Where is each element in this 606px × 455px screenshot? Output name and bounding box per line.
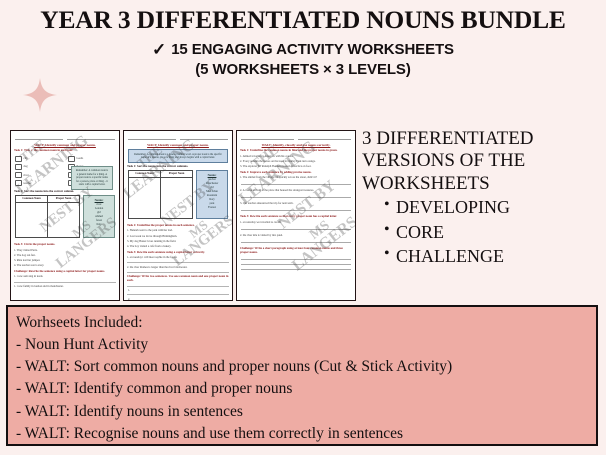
sheet3-task1-item: 3. The explorer Sir Ranulph Fiennes cros… [240, 165, 352, 169]
sheet1-word-bank: Nouns: river London girl Ahmed forest It… [83, 195, 115, 238]
sheet3-task1-item: 2. Every autumn the leaves on the trees … [240, 160, 352, 164]
sheet3-answer-line [241, 184, 351, 185]
sheet3-task2-item: 2. A visitor arrived at the place that h… [240, 189, 352, 193]
differentiation-panel: 3 DIFFERENTIATED VERSIONS OF THE WORKSHE… [362, 128, 600, 268]
sheet1-check-label: city [24, 157, 28, 160]
page-title: YEAR 3 DIFFERENTIATED NOUNS BUNDLE [10, 6, 596, 34]
list-item: CORE [384, 221, 600, 244]
word-bank-word: Italy [97, 223, 102, 226]
word-bank-word: teacher [208, 178, 216, 181]
check-icon: ✓ [152, 41, 166, 58]
word-bank-word: Rory [209, 198, 214, 201]
sheet3-task2-item: 1. The animal from the village ran quick… [240, 176, 352, 180]
sheet2-table-header-row: Common Noun Proper Noun [129, 171, 192, 178]
sheet2-task3-item: 1. on tuesday i will meet sophie in the … [127, 256, 229, 260]
sheet2-table-header-cell: Common Noun [129, 171, 161, 177]
sheet2-word-bank-title: Nouns: [199, 173, 226, 177]
sheet1-table-cell[interactable] [16, 203, 48, 237]
sheet2-table-cell[interactable] [129, 178, 161, 218]
sheet1-task3-heading: Task 3: Circle the proper nouns. [14, 243, 116, 247]
sheet2-task2-item: 1. Hannah went to the park with her dad. [127, 229, 229, 233]
sheet3-task3-item: 2. the river nile is visited by mrs pate… [240, 234, 352, 238]
worksheets-included-heading: Worhseets Included: [16, 312, 588, 334]
list-item: - Noun Hunt Activity [16, 334, 588, 356]
sheet2-answer-line [127, 294, 229, 295]
header-subline-1: ✓ 15 ENGAGING ACTIVITY WORKSHEETS [10, 41, 596, 58]
sheet1-challenge-item: 1. i saw sam sing in leeds. [14, 275, 116, 279]
sheet2-name-date-row [124, 131, 232, 140]
list-item: - WALT: Sort common nouns and proper nou… [16, 356, 588, 378]
sparkle-icon [22, 77, 58, 113]
sheet1-title: WALT: Identify common and proper nouns. [13, 143, 117, 147]
sheet1-task1-heading: Task 1: Tick ✓ the common noun in each p… [14, 149, 116, 153]
worksheet-preview-developing[interactable]: WALT: Identify common and proper nouns. … [10, 130, 120, 301]
sheet2-task2-item: 3. My dog Buster loves running in the fi… [127, 240, 229, 244]
sheet3-answer-line [241, 259, 351, 260]
sheet3-task3-item: 1. on saturday we travelled to cardiff. [240, 221, 352, 225]
sheet2-task3-heading: Task 3: Rewrite each sentence using a ca… [127, 251, 229, 255]
sheet1-task3-item: 4. The teacher read a story. [14, 264, 116, 268]
word-bank-word: London [95, 207, 103, 210]
sheet2-title: WALT: Identify common and proper nouns. [126, 143, 230, 147]
sheet2-table-header-cell: Proper Noun [161, 171, 192, 177]
sheet1-answer-line [14, 282, 116, 283]
sheet2-task3-item: 2. the river thames is longer than the r… [127, 266, 229, 270]
list-item: CHALLENGE [384, 245, 600, 268]
sheet1-task3-item: 2. The dog ran fast. [14, 254, 116, 258]
sheet2-table-body[interactable] [129, 178, 192, 218]
sheet1-check-row[interactable]: Leeds [68, 156, 115, 163]
sheet1-word-bank-title: Nouns: [86, 198, 113, 202]
sheet1-checkbox-column-left: city dog river teacher [15, 154, 62, 188]
sheet1-check-label: river [24, 174, 29, 177]
word-bank-word: Manchester [206, 182, 219, 185]
sheet1-footer-note: 1. i saw family in london and in manches… [14, 285, 116, 289]
worksheet-preview-challenge[interactable]: WALT: Identify, classify and use nouns c… [236, 130, 356, 301]
checkbox-icon[interactable] [68, 156, 75, 163]
sheet3-task3-heading: Task 3: Rewrite each sentence so that ev… [240, 215, 352, 219]
header: YEAR 3 DIFFERENTIATED NOUNS BUNDLE ✓ 15 … [0, 0, 606, 78]
sheet1-info-box: Remember: A common noun is a general nam… [71, 166, 113, 190]
sheet2-answer-number: 1. [128, 289, 228, 292]
sheet1-check-label: dog [24, 165, 28, 168]
sheet1-task3-item: 3. Rina lost her jumper. [14, 259, 116, 263]
sheet1-table-header-cell: Common Noun [16, 196, 48, 202]
sheet1-table-body[interactable] [16, 203, 79, 237]
sheet1-sort-table-wrap: Common Noun Proper Noun Nouns: river Lon… [11, 195, 119, 238]
sheet2-sort-table[interactable]: Common Noun Proper Noun [128, 170, 193, 219]
sheet1-sort-table[interactable]: Common Noun Proper Noun [15, 195, 80, 238]
list-item: DEVELOPING [384, 196, 600, 219]
checkbox-icon[interactable] [15, 156, 22, 163]
word-bank-word: girl [97, 211, 101, 214]
sheet3-task2-heading: Task 2: Improve each sentence by adding … [240, 171, 352, 175]
sheet2-challenge-heading: Challenge: Write two sentences. Use one … [127, 275, 229, 283]
differentiation-levels-list: DEVELOPING CORE CHALLENGE [362, 196, 600, 268]
sheet3-answer-line [241, 210, 351, 211]
sheet1-check-row[interactable]: dog [15, 164, 62, 171]
header-subline-1-text: 15 ENGAGING ACTIVITY WORKSHEETS [171, 41, 454, 58]
checkbox-icon[interactable] [15, 164, 22, 171]
sheet2-info-box: Remember: A common noun is a general nam… [128, 149, 228, 163]
sheet2-word-bank: Nouns: teacher Manchester girl Miss Khan… [196, 170, 228, 219]
word-bank-word: river [96, 203, 101, 206]
word-bank-word: Ahmed [95, 215, 103, 218]
sheet1-check-label: teacher [24, 182, 32, 185]
sheet1-name-date-row [11, 131, 119, 140]
word-bank-word: park [210, 202, 215, 205]
sheet1-table-header-row: Common Noun Proper Noun [16, 196, 79, 203]
sheet3-task2-item: 3. Our teacher announced the trip for ne… [240, 202, 352, 206]
worksheets-included-box: Worhseets Included: - Noun Hunt Activity… [6, 305, 598, 446]
sheet3-title: WALT: Identify, classify and use nouns c… [239, 143, 353, 147]
list-item: - WALT: Recognise nouns and use them cor… [16, 423, 588, 445]
sheet3-answer-line [241, 264, 351, 265]
sheet3-challenge-heading: Challenge: Write a short paragraph using… [240, 247, 352, 255]
word-bank-word: girl [210, 186, 214, 189]
sheet2-task1-heading: Task 1: Sort the nouns into the correct … [127, 165, 229, 169]
sheet3-task1-item: 1. Ahmed travelled to Glasgow with his c… [240, 155, 352, 159]
checkbox-icon[interactable] [15, 180, 22, 187]
header-subline-2: (5 WORKSHEETS × 3 LEVELS) [10, 61, 596, 78]
word-bank-word: Everest [208, 206, 216, 209]
sheet3-name-date-row [237, 131, 355, 140]
sheet2-answer-number: 2. [128, 298, 228, 301]
sheet3-answer-line [241, 242, 351, 243]
sheet2-task2-item: 4. The boy visited a café from a bakery. [127, 245, 229, 249]
sheet3-task1-heading: Task 1: Underline the common nouns in bl… [240, 149, 352, 153]
sheet3-answer-line [241, 269, 351, 270]
sheet2-task2-heading: Task 2: Underline the proper nouns in ea… [127, 224, 229, 228]
worksheet-preview-core[interactable]: WALT: Identify common and proper nouns. … [123, 130, 233, 301]
sheet3-answer-line [241, 197, 351, 198]
sheet2-table-cell[interactable] [161, 178, 192, 218]
sheet1-check-row[interactable]: city [15, 156, 62, 163]
sheet3-answer-line [241, 229, 351, 230]
word-bank-word: mountain [207, 194, 217, 197]
list-item: - WALT: Identify common and proper nouns [16, 378, 588, 400]
list-item: - WALT: Identify nouns in sentences [16, 401, 588, 423]
differentiation-heading: 3 DIFFERENTIATED VERSIONS OF THE WORKSHE… [362, 128, 600, 195]
sheet2-task2-item: 2. Last week we drove through Birmingham… [127, 235, 229, 239]
sheet1-task3-item: 1. They visited Paris. [14, 249, 116, 253]
word-bank-word: forest [96, 219, 102, 222]
sheet2-sort-table-wrap: Common Noun Proper Noun Nouns: teacher M… [124, 170, 232, 219]
checkbox-icon[interactable] [15, 172, 22, 179]
sheet1-check-row[interactable]: teacher [15, 180, 62, 187]
sheet1-challenge-heading: Challenge: Rewrite the sentence using a … [14, 270, 116, 274]
word-bank-word: Miss Khan [206, 190, 218, 193]
sheet2-answer-line [127, 286, 229, 287]
sheet1-table-header-cell: Proper Noun [48, 196, 79, 202]
sheet1-check-label: Leeds [77, 157, 84, 160]
sheet2-answer-line [127, 262, 229, 263]
sheet1-table-cell[interactable] [48, 203, 79, 237]
sheet2-answer-line [127, 272, 229, 273]
sheet1-check-row[interactable]: river [15, 172, 62, 179]
